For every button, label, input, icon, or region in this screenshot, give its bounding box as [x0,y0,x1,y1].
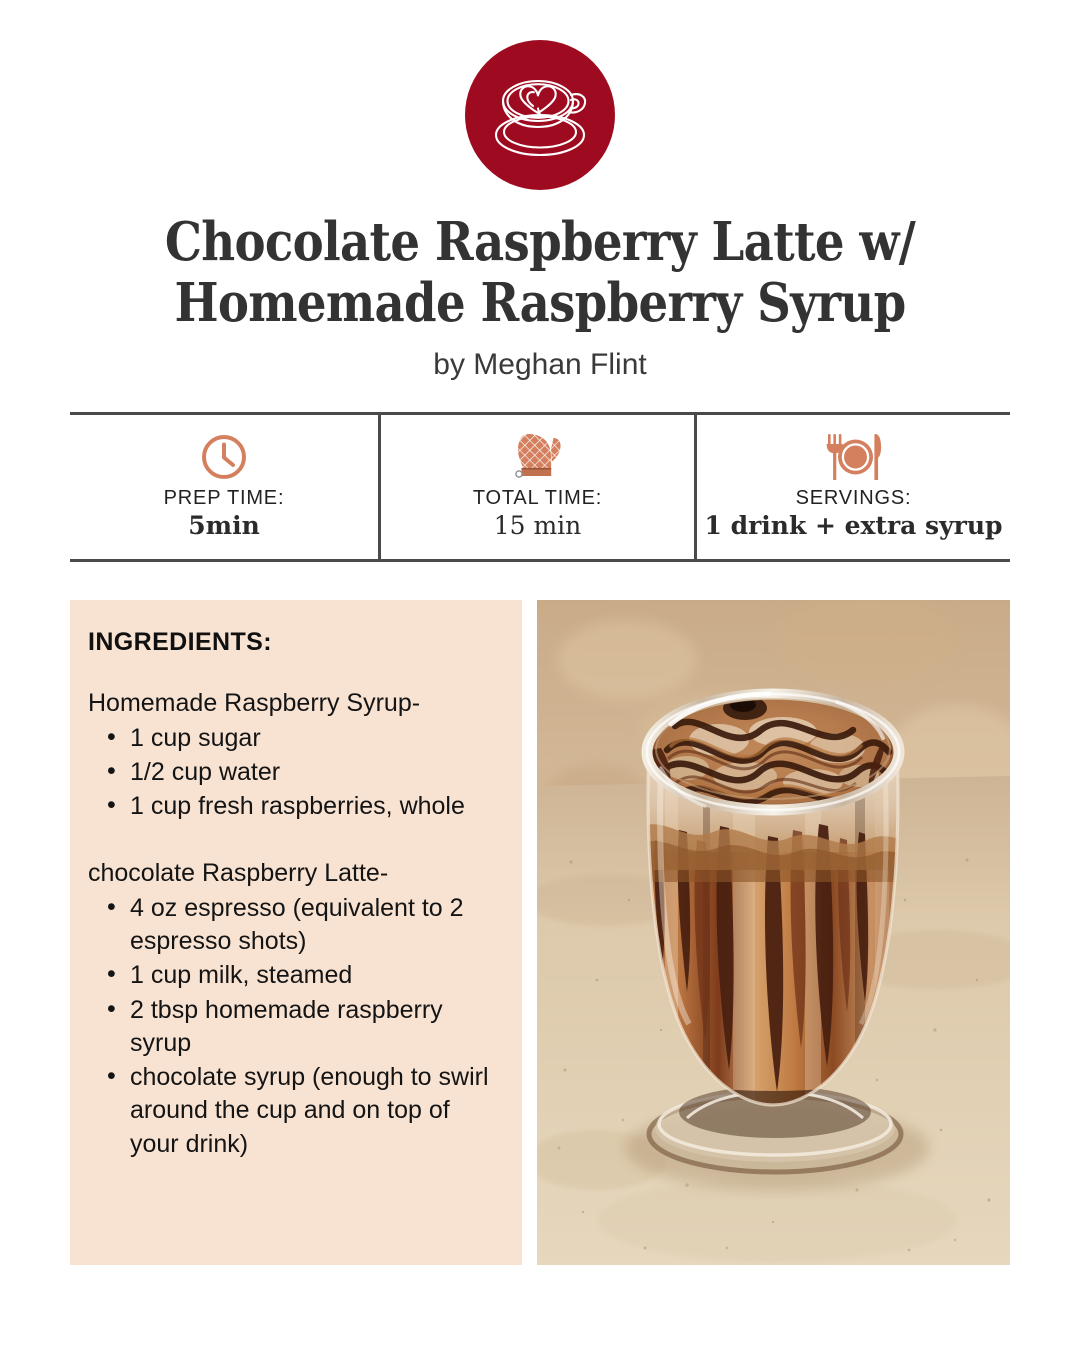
plate-cutlery-icon [817,431,891,483]
oven-mitt-icon [510,431,566,483]
latte-cup-heart-icon [476,51,604,179]
clock-icon [199,431,249,483]
ingredient-list: 4 oz espresso (equivalent to 2 espresso … [88,892,496,1161]
recipe-title-line-1: Chocolate Raspberry Latte w/ [165,211,915,273]
ingredient-group-latte: chocolate Raspberry Latte- 4 oz espresso… [88,857,496,1161]
meta-label-prep-time: PREP TIME: [164,487,285,510]
page-title: Chocolate Raspberry Latte w/ Homemade Ra… [118,212,963,335]
list-item: 1/2 cup water [88,756,496,789]
list-item: 2 tbsp homemade raspberry syrup [88,994,496,1061]
ingredients-heading: INGREDIENTS: [88,628,496,657]
title-block: Chocolate Raspberry Latte w/ Homemade Ra… [0,190,1080,383]
ingredient-group-title: chocolate Raspberry Latte- [88,857,496,890]
meta-value-servings: 1 drink + extra syrup [705,511,1003,541]
recipe-author: by Meghan Flint [60,347,1020,383]
ingredient-list: 1 cup sugar 1/2 cup water 1 cup fresh ra… [88,722,496,824]
recipe-photo [537,600,1010,1265]
list-item: 1 cup sugar [88,722,496,755]
meta-cell-total-time: TOTAL TIME: 15 min [381,415,697,559]
ingredient-group-syrup: Homemade Raspberry Syrup- 1 cup sugar 1/… [88,687,496,823]
list-item: chocolate syrup (enough to swirl around … [88,1061,496,1161]
list-item: 1 cup milk, steamed [88,959,496,992]
brand-logo-container [0,0,1080,190]
recipe-meta-bar: PREP TIME: 5min [70,412,1010,562]
logo-circle-background [465,40,615,190]
meta-label-servings: SERVINGS: [796,487,912,510]
list-item: 4 oz espresso (equivalent to 2 espresso … [88,892,496,959]
ingredient-group-title: Homemade Raspberry Syrup- [88,687,496,720]
meta-label-total-time: TOTAL TIME: [473,487,602,510]
meta-cell-prep-time: PREP TIME: 5min [70,415,381,559]
meta-cell-servings: SERVINGS: 1 drink + extra syrup [697,415,1010,559]
list-item: 1 cup fresh raspberries, whole [88,790,496,823]
ingredients-panel: INGREDIENTS: Homemade Raspberry Syrup- 1… [70,600,522,1265]
meta-value-prep-time: 5min [188,511,260,541]
recipe-title-line-2: Homemade Raspberry Syrup [175,272,906,334]
meta-value-total-time: 15 min [494,511,582,541]
